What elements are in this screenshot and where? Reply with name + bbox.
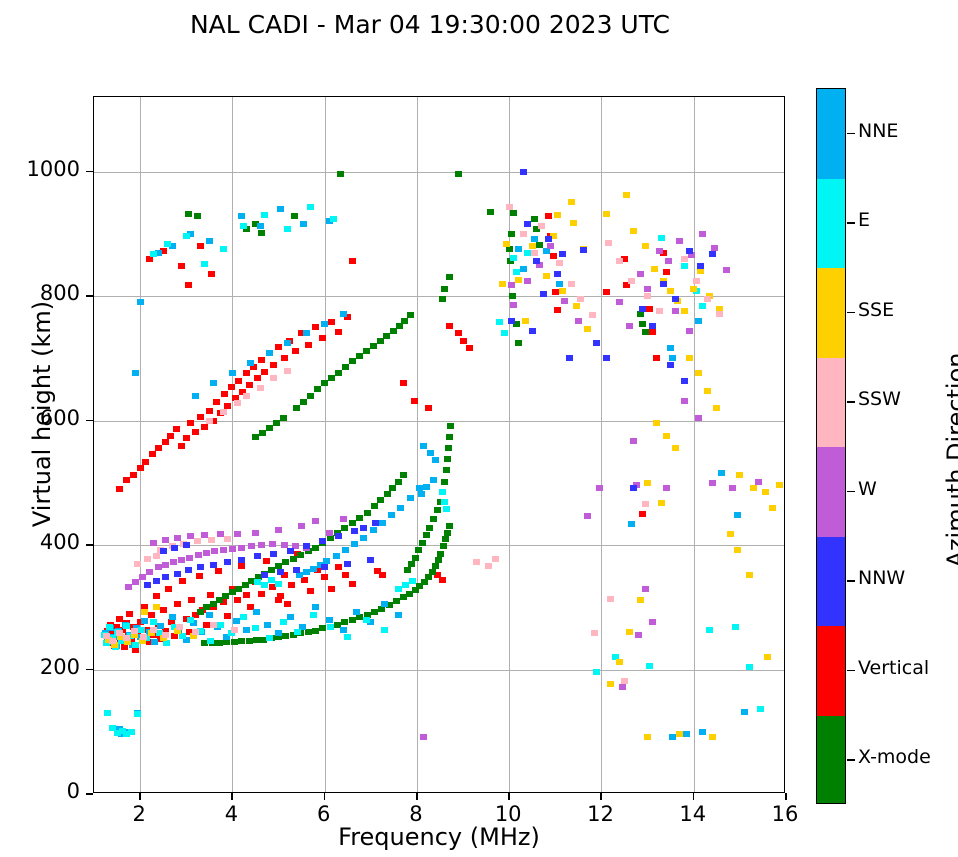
data-point xyxy=(197,414,204,420)
data-point xyxy=(224,613,231,619)
data-point xyxy=(580,247,587,253)
data-point xyxy=(238,563,245,569)
data-point xyxy=(545,236,552,242)
data-point xyxy=(337,171,344,177)
data-point xyxy=(252,625,259,631)
data-point xyxy=(681,263,688,269)
data-point xyxy=(439,296,446,302)
gridline-vertical xyxy=(601,97,602,792)
data-point xyxy=(432,457,439,463)
data-point xyxy=(203,622,210,628)
data-point xyxy=(328,319,335,325)
data-point xyxy=(642,586,649,592)
data-point xyxy=(185,282,192,288)
data-point xyxy=(349,258,356,264)
data-point xyxy=(630,485,637,491)
data-point xyxy=(153,604,160,610)
data-point xyxy=(275,527,282,533)
data-point xyxy=(275,581,282,587)
data-point xyxy=(550,253,557,259)
data-point xyxy=(596,485,603,491)
data-point xyxy=(207,592,214,598)
data-point xyxy=(194,213,201,219)
data-point xyxy=(603,211,610,217)
data-point xyxy=(194,538,201,544)
data-point xyxy=(750,485,757,491)
gridline-horizontal xyxy=(94,670,784,671)
data-point xyxy=(395,612,402,618)
data-point xyxy=(243,627,250,633)
data-point xyxy=(264,622,271,628)
data-point xyxy=(508,318,515,324)
data-point xyxy=(178,443,185,449)
data-point xyxy=(238,638,245,644)
data-point xyxy=(280,415,287,421)
data-point xyxy=(144,582,151,588)
data-point xyxy=(395,479,402,485)
data-point xyxy=(669,355,676,361)
data-point xyxy=(252,530,259,536)
data-point xyxy=(162,439,169,445)
data-point xyxy=(291,213,298,219)
data-point xyxy=(176,624,183,630)
data-point xyxy=(340,516,347,522)
data-point xyxy=(713,405,720,411)
data-point xyxy=(593,669,600,675)
data-point xyxy=(292,348,299,354)
data-point xyxy=(284,601,291,607)
data-point xyxy=(630,438,637,444)
data-point xyxy=(341,619,348,625)
data-point xyxy=(335,564,342,570)
colorbar-segment-x-mode xyxy=(817,716,845,805)
data-point xyxy=(554,307,561,313)
data-point xyxy=(529,328,536,334)
data-point xyxy=(589,312,596,318)
data-point xyxy=(109,638,116,644)
data-point xyxy=(407,312,414,318)
data-point xyxy=(501,330,508,336)
data-point xyxy=(192,429,199,435)
data-point xyxy=(755,479,762,485)
data-point xyxy=(407,495,414,501)
data-point xyxy=(492,556,499,562)
data-point xyxy=(723,267,730,273)
data-point xyxy=(639,321,646,327)
data-point xyxy=(699,303,706,309)
data-point xyxy=(178,557,185,563)
data-point xyxy=(649,329,656,335)
data-point xyxy=(734,512,741,518)
data-point xyxy=(443,467,450,473)
data-point xyxy=(187,420,194,426)
data-point xyxy=(323,558,330,564)
data-point xyxy=(630,228,637,234)
data-point xyxy=(605,240,612,246)
data-point xyxy=(253,609,260,615)
data-point xyxy=(174,601,181,607)
data-point xyxy=(298,523,305,529)
data-point xyxy=(649,619,656,625)
data-point xyxy=(533,258,540,264)
colorbar-label-sse: SSE xyxy=(858,299,894,321)
data-point xyxy=(644,480,651,486)
x-tick-mark xyxy=(139,793,141,800)
data-point xyxy=(381,601,388,607)
y-axis-label: Virtual height (km) xyxy=(28,104,56,724)
colorbar-label-e: E xyxy=(858,209,870,231)
data-point xyxy=(776,482,783,488)
data-point xyxy=(653,420,660,426)
data-point xyxy=(466,345,473,351)
plot-area xyxy=(93,96,785,793)
data-point xyxy=(349,581,356,587)
data-point xyxy=(672,308,679,314)
data-point xyxy=(503,241,510,247)
data-point xyxy=(165,586,172,592)
data-point xyxy=(258,591,265,597)
data-point xyxy=(342,547,349,553)
data-point xyxy=(644,286,651,292)
data-point xyxy=(201,424,208,430)
data-point xyxy=(153,593,160,599)
data-point xyxy=(257,385,264,391)
data-point xyxy=(275,344,282,350)
data-point xyxy=(658,500,665,506)
data-point xyxy=(224,559,231,565)
data-point xyxy=(441,499,448,505)
data-point xyxy=(485,563,492,569)
data-point xyxy=(510,255,517,261)
data-point xyxy=(445,445,452,451)
data-point xyxy=(400,594,407,600)
colorbar-segment-vertical xyxy=(817,626,845,716)
data-point xyxy=(281,542,288,548)
data-point xyxy=(252,434,259,440)
data-point xyxy=(254,375,261,381)
data-point xyxy=(704,296,711,302)
data-point xyxy=(282,633,289,639)
data-point xyxy=(531,236,538,242)
data-point xyxy=(423,484,430,490)
data-point xyxy=(203,550,210,556)
data-point xyxy=(141,618,148,624)
data-point xyxy=(440,543,447,549)
data-point xyxy=(432,563,439,569)
data-point xyxy=(741,709,748,715)
data-point xyxy=(192,393,199,399)
data-point xyxy=(639,306,646,312)
data-point xyxy=(201,261,208,267)
data-point xyxy=(238,545,245,551)
colorbar-tick xyxy=(847,670,855,672)
data-point xyxy=(660,281,667,287)
data-point xyxy=(160,607,167,613)
data-point xyxy=(699,729,706,735)
x-tick-mark xyxy=(324,793,326,800)
colorbar-segment-w xyxy=(817,447,845,537)
data-point xyxy=(628,521,635,527)
data-point xyxy=(269,541,276,547)
data-point xyxy=(217,622,224,628)
data-point xyxy=(275,630,282,636)
data-point xyxy=(384,491,391,497)
data-point xyxy=(690,286,697,292)
data-point xyxy=(141,609,148,615)
data-point xyxy=(646,663,653,669)
data-point xyxy=(734,547,741,553)
data-point xyxy=(603,355,610,361)
data-point xyxy=(164,241,171,247)
colorbar xyxy=(816,88,846,804)
data-point xyxy=(330,216,337,222)
data-point xyxy=(342,572,349,578)
data-point xyxy=(259,430,266,436)
data-point xyxy=(559,251,566,257)
data-point xyxy=(672,445,679,451)
data-point xyxy=(162,632,169,638)
data-point xyxy=(695,415,702,421)
data-point xyxy=(153,578,160,584)
data-point xyxy=(729,485,736,491)
data-point xyxy=(524,221,531,227)
data-point xyxy=(426,525,433,531)
data-point xyxy=(253,637,260,643)
data-point xyxy=(663,269,670,275)
data-point xyxy=(335,533,342,539)
gridline-horizontal xyxy=(94,421,784,422)
data-point xyxy=(460,338,467,344)
data-point xyxy=(224,403,231,409)
colorbar-label-nne: NNE xyxy=(858,120,898,142)
colorbar-tick xyxy=(847,401,855,403)
data-point xyxy=(520,169,527,175)
data-point xyxy=(277,206,284,212)
data-point xyxy=(195,552,202,558)
data-point xyxy=(243,370,250,376)
data-point xyxy=(327,624,334,630)
x-axis-label: Frequency (MHz) xyxy=(93,823,785,851)
data-point xyxy=(439,577,446,583)
data-point xyxy=(570,220,577,226)
data-point xyxy=(155,564,162,570)
data-point xyxy=(150,627,157,633)
data-point xyxy=(246,638,253,644)
colorbar-label-w: W xyxy=(858,478,877,500)
data-point xyxy=(284,226,291,232)
data-point xyxy=(658,235,665,241)
data-point xyxy=(676,731,683,737)
data-point xyxy=(216,640,223,646)
data-point xyxy=(473,559,480,565)
data-point xyxy=(446,323,453,329)
data-point xyxy=(174,571,181,577)
data-point xyxy=(206,238,213,244)
data-point xyxy=(607,681,614,687)
data-point xyxy=(435,557,442,563)
data-point xyxy=(379,520,386,526)
data-point xyxy=(531,250,538,256)
data-point xyxy=(303,330,310,336)
colorbar-label-ssw: SSW xyxy=(858,388,901,410)
data-point xyxy=(487,209,494,215)
data-point xyxy=(206,408,213,414)
data-point xyxy=(415,547,422,553)
x-tick-mark xyxy=(231,793,233,800)
data-point xyxy=(515,246,522,252)
data-point xyxy=(307,588,314,594)
data-point xyxy=(246,382,253,388)
data-point xyxy=(515,340,522,346)
data-point xyxy=(538,223,545,229)
data-point xyxy=(732,624,739,630)
data-point xyxy=(556,281,563,287)
data-point xyxy=(307,393,314,399)
gridline-horizontal xyxy=(94,545,784,546)
data-point xyxy=(430,516,437,522)
data-point xyxy=(328,586,335,592)
data-point xyxy=(746,664,753,670)
data-point xyxy=(651,266,658,272)
data-point xyxy=(210,562,217,568)
data-point xyxy=(667,345,674,351)
data-point xyxy=(132,370,139,376)
data-point xyxy=(509,293,516,299)
colorbar-title: Azimuth Direction xyxy=(942,220,958,700)
data-point xyxy=(363,617,370,623)
data-point xyxy=(437,551,444,557)
data-point xyxy=(139,574,146,580)
data-point xyxy=(371,609,378,615)
x-tick-mark xyxy=(600,793,602,800)
data-point xyxy=(344,561,351,567)
gridline-vertical xyxy=(417,97,418,792)
data-point xyxy=(434,507,441,513)
data-point xyxy=(305,342,312,348)
data-point xyxy=(412,555,419,561)
data-point xyxy=(312,324,319,330)
data-point xyxy=(686,355,693,361)
data-point xyxy=(444,530,451,536)
data-point xyxy=(155,445,162,451)
data-point xyxy=(397,505,404,511)
data-point xyxy=(619,684,626,690)
data-point xyxy=(540,291,547,297)
data-point xyxy=(603,289,610,295)
data-point xyxy=(297,552,304,558)
data-point xyxy=(134,561,141,567)
y-tick-label: 0 xyxy=(0,779,80,803)
data-point xyxy=(406,591,413,597)
y-tick-mark xyxy=(86,669,93,671)
data-point xyxy=(247,360,254,366)
data-point xyxy=(186,555,193,561)
data-point xyxy=(547,243,554,249)
data-point xyxy=(300,221,307,227)
y-tick-mark xyxy=(86,793,93,795)
data-point xyxy=(529,243,536,249)
colorbar-tick xyxy=(847,222,855,224)
data-point xyxy=(349,617,356,623)
data-point xyxy=(268,567,275,573)
data-point xyxy=(573,303,580,309)
data-point xyxy=(360,525,367,531)
data-point xyxy=(584,513,591,519)
data-point xyxy=(333,553,340,559)
data-point xyxy=(683,731,690,737)
data-point xyxy=(169,614,176,620)
data-point xyxy=(584,326,591,332)
data-point xyxy=(310,612,317,618)
data-point xyxy=(568,199,575,205)
data-point xyxy=(210,622,217,628)
data-point xyxy=(510,302,517,308)
data-point xyxy=(137,465,144,471)
data-point xyxy=(157,623,164,629)
data-point xyxy=(711,245,718,251)
data-point xyxy=(341,525,348,531)
data-point xyxy=(425,405,432,411)
data-point xyxy=(699,231,706,237)
data-point xyxy=(393,598,400,604)
data-point xyxy=(254,553,261,559)
data-point xyxy=(716,311,723,317)
data-point xyxy=(220,547,227,553)
data-point xyxy=(762,489,769,495)
data-point xyxy=(427,450,434,456)
data-point xyxy=(577,296,584,302)
data-point xyxy=(221,391,228,397)
data-point xyxy=(150,619,157,625)
data-point xyxy=(150,540,157,546)
data-point xyxy=(220,246,227,252)
data-point xyxy=(240,614,247,620)
data-point xyxy=(243,393,250,399)
data-point xyxy=(125,584,132,590)
data-point xyxy=(266,425,273,431)
data-point xyxy=(545,213,552,219)
data-point xyxy=(455,330,462,336)
data-point xyxy=(360,535,367,541)
data-point xyxy=(353,609,360,615)
data-point xyxy=(187,617,194,623)
data-point xyxy=(207,638,214,644)
data-point xyxy=(171,545,178,551)
data-point xyxy=(695,370,702,376)
data-point xyxy=(446,523,453,529)
data-point xyxy=(439,489,446,495)
data-point xyxy=(162,537,169,543)
data-point xyxy=(370,527,377,533)
data-point xyxy=(197,564,204,570)
data-point xyxy=(284,368,291,374)
data-point xyxy=(287,548,294,554)
data-point xyxy=(196,573,203,579)
data-point xyxy=(704,388,711,394)
data-point xyxy=(210,380,217,386)
data-point xyxy=(430,477,437,483)
data-point xyxy=(144,556,151,562)
data-point xyxy=(234,597,241,603)
data-point xyxy=(277,593,284,599)
gridline-horizontal xyxy=(94,172,784,173)
colorbar-tick xyxy=(847,491,855,493)
data-point xyxy=(162,574,169,580)
data-point xyxy=(644,734,651,740)
data-point xyxy=(536,242,543,248)
data-point xyxy=(106,624,113,630)
data-point xyxy=(554,271,561,277)
